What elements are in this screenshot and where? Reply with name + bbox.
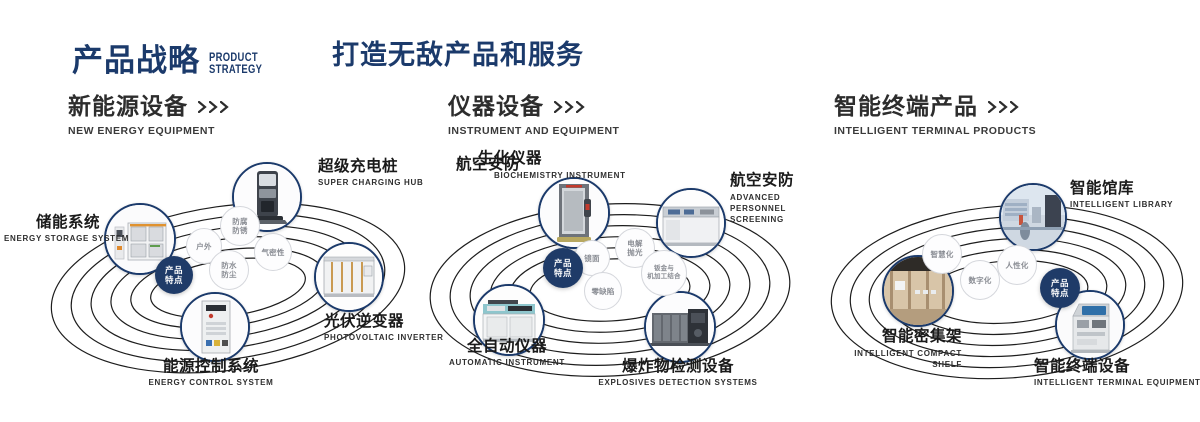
caption-en: ENERGY STORAGE SYSTEM	[4, 234, 100, 244]
feature-bubble: 防腐 防锈	[220, 206, 260, 246]
caption-intelligent-library: 智能馆库 INTELLIGENT LIBRARY	[1070, 180, 1200, 210]
caption-cn: 智能密集架	[802, 328, 962, 346]
section-title-cn: 新能源设备	[68, 94, 230, 119]
core-label-line1: 产品	[1051, 278, 1069, 288]
caption-en: INTELLIGENT LIBRARY	[1070, 200, 1200, 210]
caption-energy-storage-system: 储能系统 ENERGY STORAGE SYSTEM	[4, 214, 100, 244]
photovoltaic-inverter-photo	[316, 244, 382, 310]
product-strategy-infographic: 产品战略 PRODUCT STRATEGY 打造无敌产品和服务 新能源设备 NE…	[0, 0, 1200, 422]
core-label-line1: 产品	[554, 258, 572, 268]
advanced-personnel-screening-photo	[658, 190, 724, 256]
diagram-intelligent-terminal: 智能馆库 INTELLIGENT LIBRARY 智能终端设备 INTELLIG…	[812, 150, 1200, 410]
page-subtitle: 打造无敌产品和服务	[332, 33, 584, 72]
feature-bubble: 数字化	[960, 260, 1000, 300]
feature-label: 户外	[196, 242, 211, 251]
feature-bubble: 人性化	[997, 245, 1037, 285]
feature-label: 钣金与 机加工结合	[647, 265, 681, 281]
page-title-en: PRODUCT STRATEGY	[209, 53, 262, 76]
section-title-text: 智能终端产品	[834, 94, 978, 119]
feature-label: 零缺陷	[591, 287, 614, 296]
chevron-right-triple-icon	[554, 101, 586, 113]
section-title-intelligent-terminal: 智能终端产品 INTELLIGENT TERMINAL PRODUCTS	[834, 94, 1036, 137]
node-intelligent-library[interactable]	[999, 183, 1067, 251]
feature-label: 数字化	[968, 276, 991, 285]
caption-biochemistry-instrument: 生化仪器 BIOCHEMISTRY INSTRUMENT	[478, 150, 618, 181]
caption-automatic-instrument: 全自动仪器 AUTOMATIC INSTRUMENT	[412, 338, 602, 368]
section-title-en: NEW ENERGY EQUIPMENT	[68, 125, 230, 137]
intelligent-library-photo	[1001, 185, 1065, 249]
feature-bubble: 零缺陷	[584, 272, 622, 310]
caption-en: ENERGY CONTROL SYSTEM	[86, 378, 336, 388]
feature-label: 人性化	[1005, 261, 1028, 270]
feature-label: 气密性	[261, 248, 284, 257]
caption-en: INTELLIGENT COMPACT SHELF	[842, 348, 962, 370]
core-bubble-product-features: 产品 特点	[155, 256, 193, 294]
section-title-instrument: 仪器设备 INSTRUMENT AND EQUIPMENT	[448, 94, 619, 137]
section-title-new-energy: 新能源设备 NEW ENERGY EQUIPMENT	[68, 94, 230, 137]
section-title-en: INSTRUMENT AND EQUIPMENT	[448, 125, 619, 137]
feature-label: 电解 抛光	[627, 239, 642, 257]
caption-energy-control-system: 能源控制系统 ENERGY CONTROL SYSTEM	[86, 358, 336, 388]
caption-cn: 储能系统	[4, 214, 100, 232]
diagram-new-energy: 储能系统 ENERGY STORAGE SYSTEM 超级充电桩 SUPER C…	[28, 150, 428, 410]
caption-en: EXPLOSIVES DETECTION SYSTEMS	[578, 378, 778, 388]
chevron-right-triple-icon	[988, 101, 1020, 113]
feature-bubble: 智慧化	[922, 234, 962, 274]
caption-explosives-detection-systems: 爆炸物检测设备 EXPLOSIVES DETECTION SYSTEMS	[578, 358, 778, 388]
page-title-en-line2: STRATEGY	[209, 65, 262, 77]
node-biochemistry-instrument[interactable]	[538, 177, 610, 249]
chevron-right-triple-icon	[198, 101, 230, 113]
caption-en: AUTOMATIC INSTRUMENT	[412, 358, 602, 368]
node-explosives-detection-systems[interactable]	[644, 291, 716, 363]
node-energy-control-system[interactable]	[180, 292, 250, 362]
caption-cn: 生化仪器	[478, 150, 618, 168]
node-advanced-personnel-screening[interactable]	[656, 188, 726, 258]
section-title-text: 新能源设备	[68, 94, 188, 119]
caption-cn: 能源控制系统	[86, 358, 336, 376]
core-label-line2: 特点	[554, 268, 572, 278]
page-title: 产品战略 PRODUCT STRATEGY	[72, 26, 274, 78]
diagram-instrument: 航空安防 生化仪器 BIOCHEMISTRY INSTRUMENT 航空安防 A…	[410, 150, 810, 410]
core-label-line1: 产品	[165, 265, 183, 275]
energy-control-system-photo	[182, 294, 248, 360]
caption-intelligent-terminal-equipment: 智能终端设备 INTELLIGENT TERMINAL EQUIPMENT	[1034, 358, 1200, 388]
page-title-en-line1: PRODUCT	[209, 53, 262, 65]
caption-en: INTELLIGENT TERMINAL EQUIPMENT	[1034, 378, 1200, 388]
section-title-cn: 智能终端产品	[834, 94, 1036, 119]
caption-cn: 爆炸物检测设备	[578, 358, 778, 376]
feature-label: 智慧化	[930, 250, 953, 259]
core-bubble-product-features: 产品 特点	[1040, 268, 1080, 308]
caption-intelligent-compact-shelf: 智能密集架 INTELLIGENT COMPACT SHELF	[802, 328, 962, 370]
page-title-cn: 产品战略	[72, 44, 200, 78]
feature-label: 镜面	[584, 254, 599, 263]
feature-bubble: 防水 防尘	[209, 250, 249, 290]
explosives-detection-systems-photo	[646, 293, 714, 361]
caption-en: BIOCHEMISTRY INSTRUMENT	[494, 170, 552, 181]
biochemistry-instrument-photo	[540, 179, 608, 247]
feature-label: 防水 防尘	[221, 261, 236, 279]
core-label-line2: 特点	[165, 275, 183, 285]
core-bubble-product-features: 产品 特点	[543, 248, 583, 288]
feature-bubble: 钣金与 机加工结合	[641, 250, 687, 296]
section-title-cn: 仪器设备	[448, 94, 619, 119]
section-title-en: INTELLIGENT TERMINAL PRODUCTS	[834, 125, 1036, 137]
caption-cn: 全自动仪器	[412, 338, 602, 356]
feature-label: 防腐 防锈	[232, 217, 247, 235]
caption-cn: 智能终端设备	[1034, 358, 1200, 376]
node-photovoltaic-inverter[interactable]	[314, 242, 384, 312]
feature-bubble: 气密性	[254, 233, 292, 271]
caption-cn: 智能馆库	[1070, 180, 1200, 198]
core-label-line2: 特点	[1051, 288, 1069, 298]
section-title-text: 仪器设备	[448, 94, 544, 119]
